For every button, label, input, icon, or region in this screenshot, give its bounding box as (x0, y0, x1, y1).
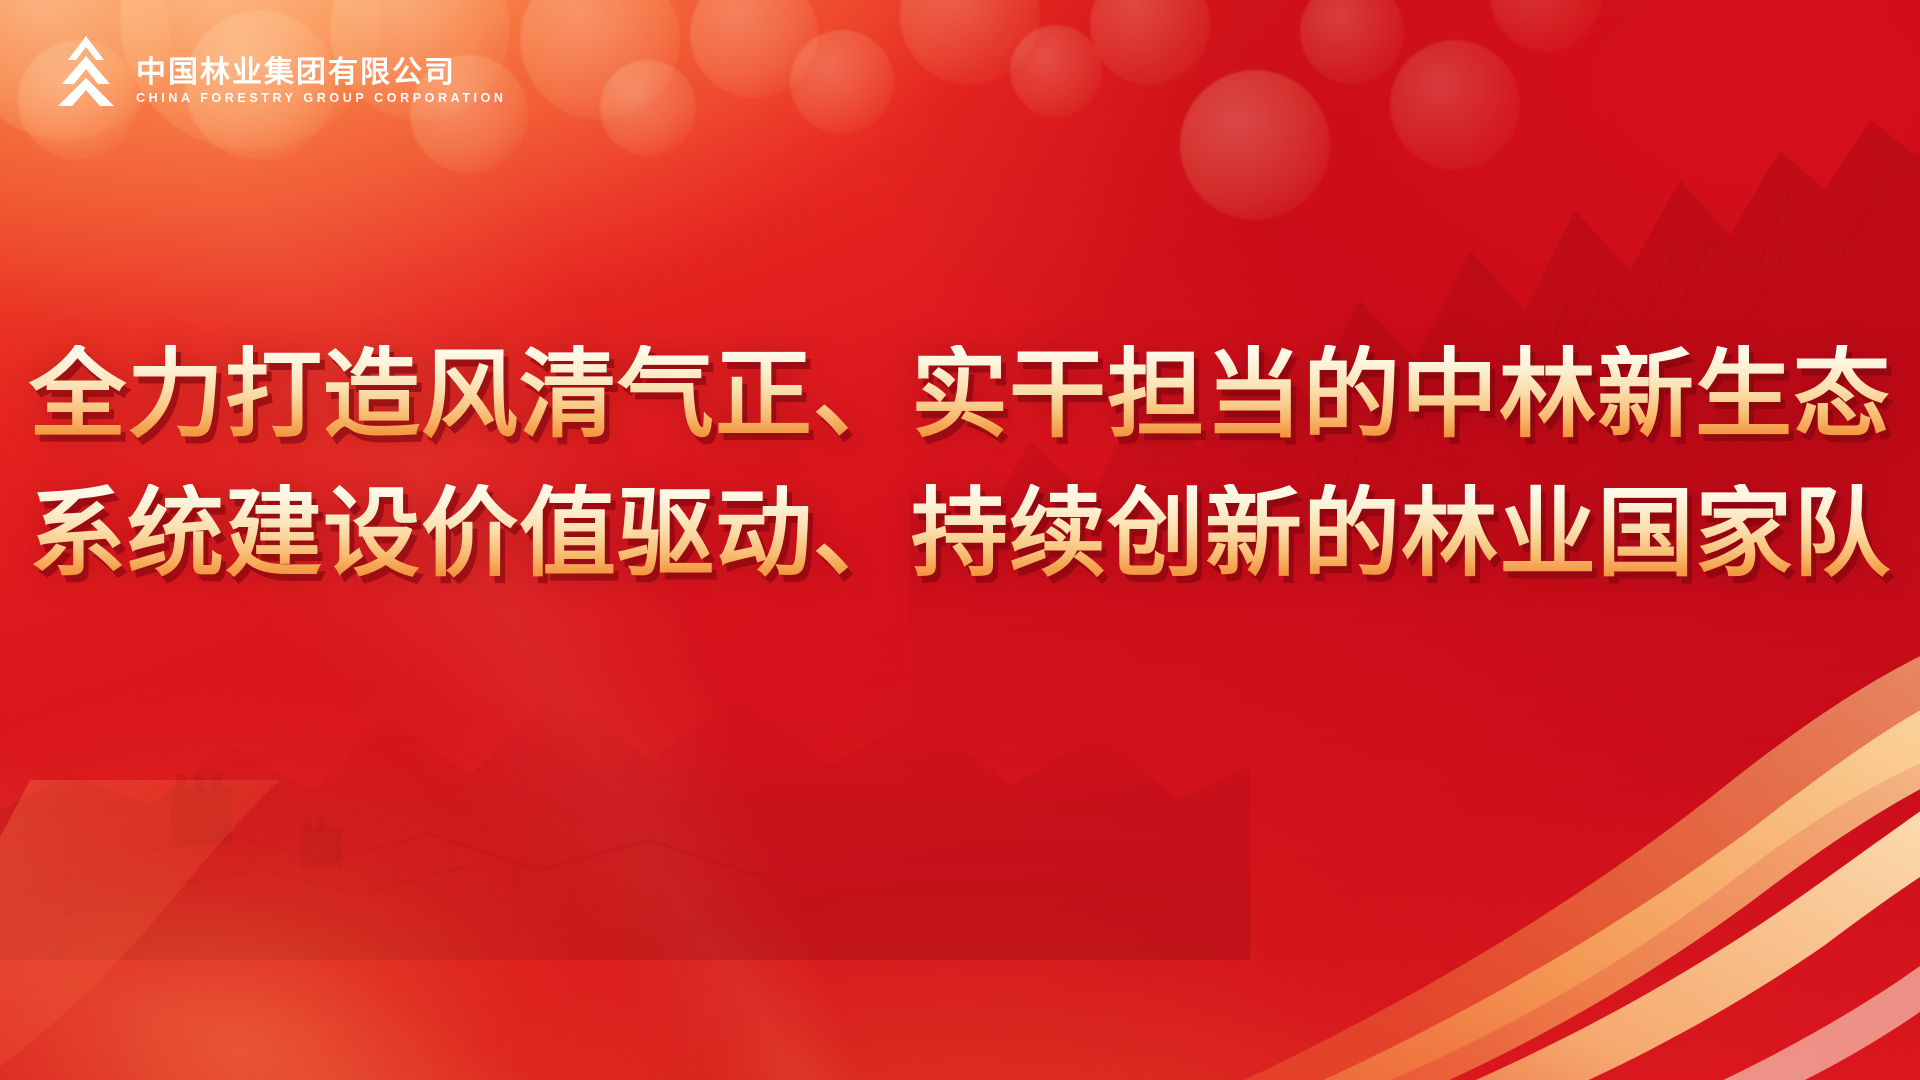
bokeh-circle (690, 0, 818, 98)
brand-name-en: CHINA FORESTRY GROUP CORPORATION (136, 92, 507, 105)
bokeh-circle (1390, 40, 1520, 170)
china-forestry-pagoda-logo-icon (52, 34, 120, 106)
bokeh-circle (520, 0, 680, 120)
left-wave-decor (0, 780, 520, 1080)
poster-canvas: 中国林业集团有限公司 CHINA FORESTRY GROUP CORPORAT… (0, 0, 1920, 1080)
bokeh-circle (1180, 70, 1330, 220)
bokeh-circle (1300, 0, 1404, 84)
brand-logo: 中国林业集团有限公司 CHINA FORESTRY GROUP CORPORAT… (52, 34, 507, 106)
golden-ribbon-decor (960, 640, 1920, 1080)
brand-text: 中国林业集团有限公司 CHINA FORESTRY GROUP CORPORAT… (136, 58, 507, 107)
headline-line-2: 系统建设价值驱动、持续创新的林业国家队 (29, 484, 1891, 585)
bokeh-circle (790, 30, 894, 134)
brand-name-cn: 中国林业集团有限公司 (136, 58, 507, 88)
bokeh-circle (1490, 0, 1602, 52)
bokeh-circle (600, 60, 696, 156)
bokeh-circle (900, 0, 1040, 85)
bokeh-circle (1090, 0, 1210, 85)
bottom-left-glow-decor (0, 680, 740, 1080)
headline-block: 全力打造风清气正、实干担当的中林新生态 系统建设价值驱动、持续创新的林业国家队 (0, 345, 1920, 585)
bokeh-circle (1010, 25, 1102, 117)
mountain-watermark-center (0, 560, 1250, 960)
headline-line-1: 全力打造风清气正、实干担当的中林新生态 (29, 345, 1891, 446)
